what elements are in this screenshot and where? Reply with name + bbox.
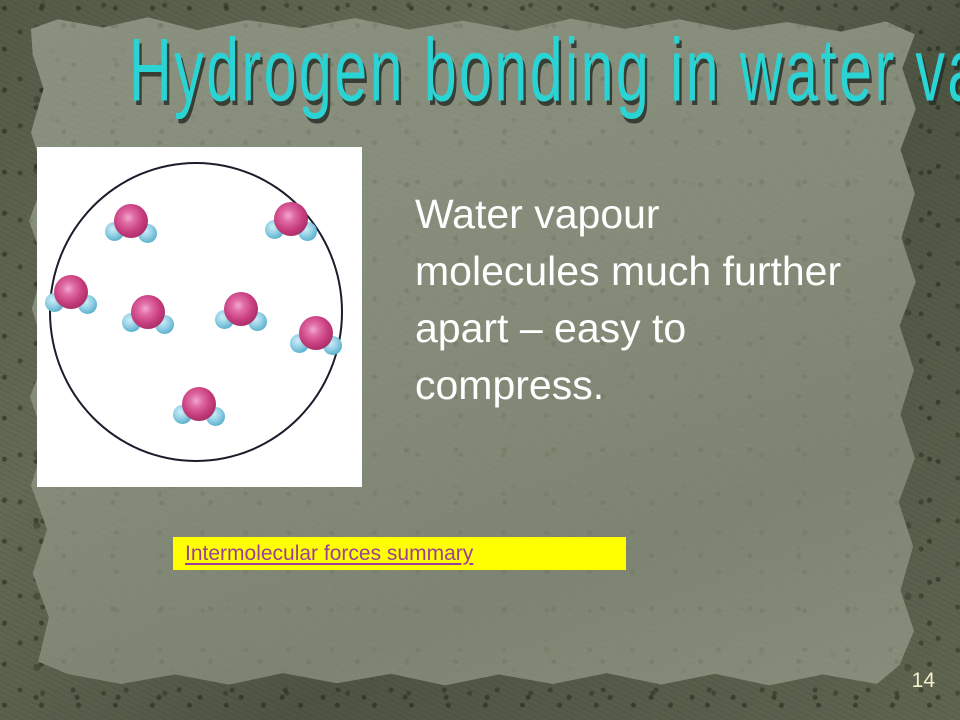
oxygen-atom bbox=[131, 295, 165, 329]
water-vapour-diagram bbox=[37, 147, 362, 487]
oxygen-atom bbox=[54, 275, 88, 309]
oxygen-atom bbox=[299, 316, 333, 350]
slide-canvas: Hydrogen bonding in water vapour Water v… bbox=[0, 0, 960, 720]
oxygen-atom bbox=[224, 292, 258, 326]
oxygen-atom bbox=[182, 387, 216, 421]
body-text: Water vapour molecules much further apar… bbox=[415, 186, 845, 414]
intermolecular-forces-summary-link[interactable]: Intermolecular forces summary bbox=[185, 542, 473, 566]
hyperlink-highlight-box[interactable]: Intermolecular forces summary bbox=[173, 537, 626, 570]
page-number: 14 bbox=[912, 669, 935, 693]
oxygen-atom bbox=[274, 202, 308, 236]
oxygen-atom bbox=[114, 204, 148, 238]
page-title: Hydrogen bonding in water vapour bbox=[129, 26, 841, 115]
